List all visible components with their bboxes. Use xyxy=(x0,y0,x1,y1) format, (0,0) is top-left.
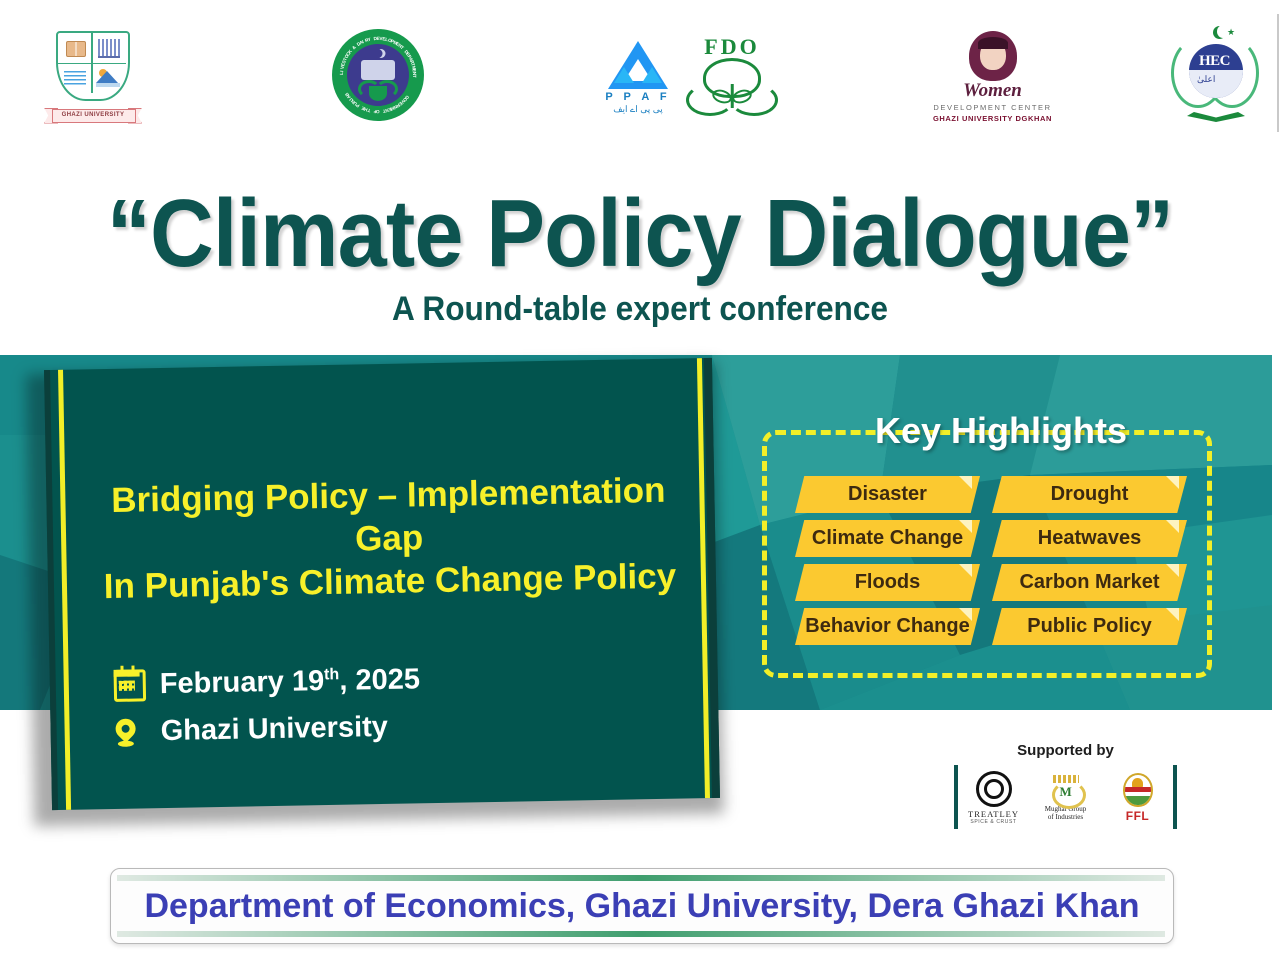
headline-line-2: In Punjab's Climate Change Policy xyxy=(100,555,681,609)
event-venue-row: Ghazi University xyxy=(114,710,421,749)
star-icon: ★ xyxy=(1227,28,1235,37)
calendar-icon xyxy=(114,669,147,702)
treatley-mark-icon xyxy=(976,771,1012,807)
highlight-tag-label: Drought xyxy=(1045,483,1135,506)
conference-poster: GHAZI UNIVERSITY LIVESTOCK & DAIRY DEVEL… xyxy=(0,0,1280,956)
sponsor-tagline: of Industries xyxy=(1048,813,1083,821)
highlight-tag-label: Carbon Market xyxy=(1013,571,1165,594)
hec-urdu-text: اعلیٰ xyxy=(1197,74,1215,85)
footer-top-rule xyxy=(117,875,1165,881)
event-date-year: , 2025 xyxy=(339,663,420,696)
highlight-tag-label: Public Policy xyxy=(1021,615,1157,638)
ppaf-letters: P P A F xyxy=(605,91,670,103)
highlight-tag: Heatwaves xyxy=(992,520,1187,557)
seal-ring-text: LIVESTOCK & DAIRY DEVELOPMENT DEPARTMENT… xyxy=(332,29,424,121)
sponsor-mughal-group: M Mughal Group of Industries xyxy=(1037,775,1095,821)
ppaf-urdu-text: پی پی اے ایف xyxy=(613,104,663,115)
key-highlights-title: Key Highlights xyxy=(875,410,1127,452)
highlight-tag-label: Climate Change xyxy=(806,527,969,550)
sponsor-ffl: FFL xyxy=(1109,773,1167,823)
key-highlights-grid: Disaster Drought Climate Change Heatwave… xyxy=(795,476,1195,652)
highlight-row: Climate Change Heatwaves xyxy=(795,520,1195,557)
building-icon xyxy=(98,39,120,58)
wdc-institution: GHAZI UNIVERSITY DGKHAN xyxy=(933,114,1052,123)
ffl-egg-icon xyxy=(1123,773,1153,807)
highlight-tag-label: Heatwaves xyxy=(1032,527,1147,550)
water-waves-icon xyxy=(64,71,86,85)
woman-portrait-icon xyxy=(965,31,1021,83)
hec-logo: ★ HEC اعلیٰ xyxy=(1165,20,1265,132)
wdc-subtitle: DEVELOPMENT CENTER xyxy=(933,103,1051,112)
government-seal-icon: LIVESTOCK & DAIRY DEVELOPMENT DEPARTMENT… xyxy=(332,29,424,121)
supported-by-block: Supported by TREATLEY SPICE & CRUST M Mu… xyxy=(948,742,1183,833)
highlight-tag: Disaster xyxy=(795,476,980,513)
event-meta-list: February 19th, 2025 Ghazi University xyxy=(114,663,422,763)
ghazi-university-logo: GHAZI UNIVERSITY xyxy=(38,20,148,130)
highlight-tag: Drought xyxy=(992,476,1187,513)
triangle-icon xyxy=(608,41,668,89)
hec-emblem-icon: ★ HEC اعلیٰ xyxy=(1169,26,1261,126)
ghazi-university-ribbon: GHAZI UNIVERSITY xyxy=(44,106,142,124)
ppaf-logo: P P A F پی پی اے ایف xyxy=(598,30,678,125)
divider xyxy=(954,765,958,829)
women-development-center-logo: Women DEVELOPMENT CENTER GHAZI UNIVERSIT… xyxy=(930,22,1055,132)
event-info-panel: Bridging Policy – Implementation Gap In … xyxy=(44,358,720,810)
highlight-tag: Carbon Market xyxy=(992,564,1187,601)
crescent-icon xyxy=(1213,26,1226,39)
headline-line-1: Bridging Policy – Implementation Gap xyxy=(98,469,679,566)
location-pin-icon xyxy=(114,718,137,746)
event-headline: Bridging Policy – Implementation Gap In … xyxy=(98,469,680,609)
cotton-plant-icon xyxy=(684,56,780,118)
highlight-tag-label: Floods xyxy=(849,571,927,594)
shield-icon xyxy=(56,27,130,105)
event-date-prefix: February 19 xyxy=(160,665,325,700)
highlight-row: Floods Carbon Market xyxy=(795,564,1195,601)
highlight-row: Disaster Drought xyxy=(795,476,1195,513)
footer-banner: Department of Economics, Ghazi Universit… xyxy=(110,868,1174,944)
highlight-tag-label: Disaster xyxy=(842,483,933,506)
footer-bottom-rule xyxy=(117,931,1165,937)
highlight-tag-label: Behavior Change xyxy=(799,615,975,638)
highlight-tag: Climate Change xyxy=(795,520,980,557)
divider xyxy=(1277,14,1279,132)
mountain-sun-icon xyxy=(96,69,120,87)
highlight-row: Behavior Change Public Policy xyxy=(795,608,1195,645)
panel-left-accent-line xyxy=(58,370,71,810)
highlight-tag: Public Policy xyxy=(992,608,1187,645)
highlight-tag: Behavior Change xyxy=(795,608,980,645)
highlight-tag: Floods xyxy=(795,564,980,601)
ribbon-label: GHAZI UNIVERSITY xyxy=(62,112,125,118)
hec-letters: HEC xyxy=(1199,53,1230,70)
sponsor-name: FFL xyxy=(1126,809,1150,823)
supported-by-label: Supported by xyxy=(948,742,1183,759)
wdc-title: Women xyxy=(963,80,1022,102)
livestock-dairy-logo: LIVESTOCK & DAIRY DEVELOPMENT DEPARTMENT… xyxy=(325,22,430,127)
sponsor-name: TREATLEY xyxy=(968,809,1019,819)
sponsor-tagline: SPICE & CRUST xyxy=(970,819,1016,825)
divider xyxy=(1173,765,1177,829)
event-venue: Ghazi University xyxy=(160,711,388,748)
book-icon xyxy=(66,41,86,57)
footer-text: Department of Economics, Ghazi Universit… xyxy=(111,887,1173,926)
sponsor-logos-row: TREATLEY SPICE & CRUST M Mughal Group of… xyxy=(948,763,1183,833)
sponsor-treatley: TREATLEY SPICE & CRUST xyxy=(965,771,1023,825)
title-block: “Climate Policy Dialogue” A Round-table … xyxy=(0,186,1280,329)
mughal-crest-icon: M xyxy=(1050,775,1082,805)
fdo-logo: FDO xyxy=(672,26,792,126)
page-title: “Climate Policy Dialogue” xyxy=(51,186,1229,282)
event-date: February 19th, 2025 xyxy=(160,663,421,701)
event-date-row: February 19th, 2025 xyxy=(114,663,421,702)
page-subtitle: A Round-table expert conference xyxy=(45,290,1235,329)
sponsor-logo-bar: GHAZI UNIVERSITY LIVESTOCK & DAIRY DEVEL… xyxy=(0,0,1280,150)
event-date-ordinal: th xyxy=(324,666,339,683)
